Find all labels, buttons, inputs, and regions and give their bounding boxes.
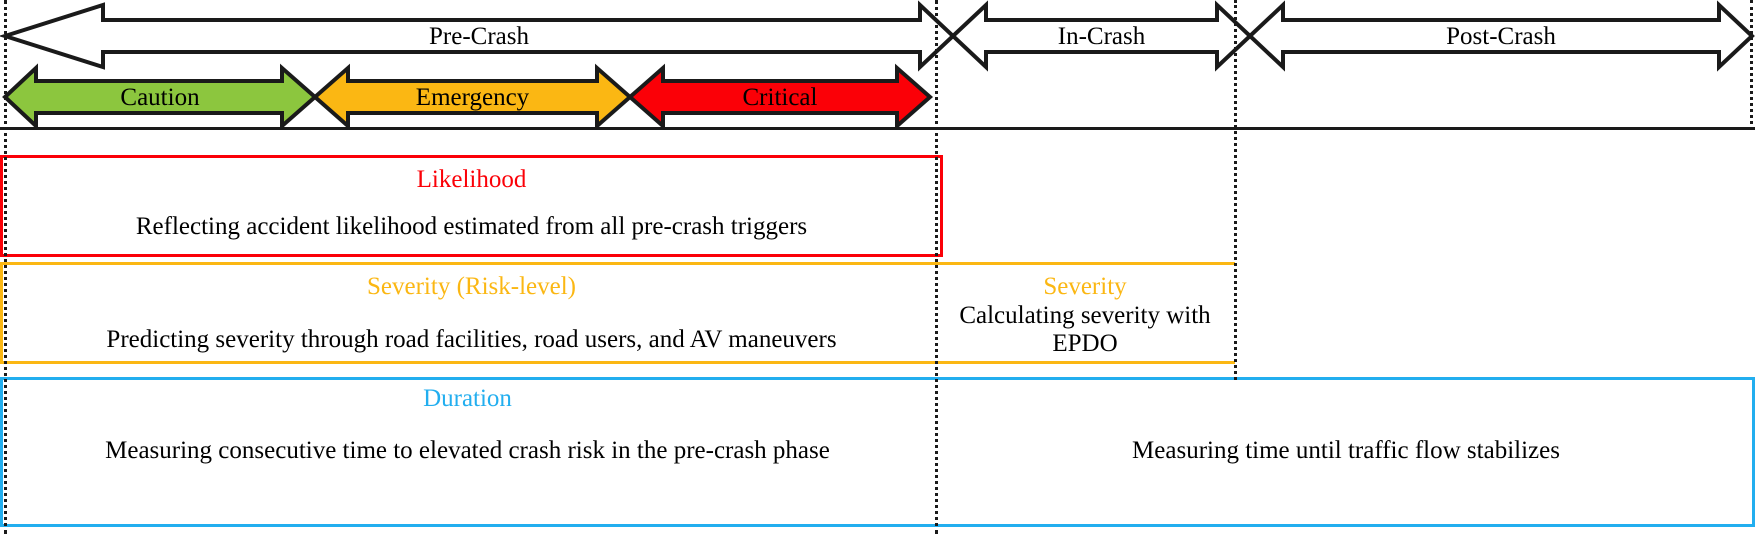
phase-arrow-band [0,0,1755,130]
attribute-description-severity-in-crash: Calculating severity with EPDO [935,302,1235,358]
phase-arrow-post-crash [1250,5,1752,67]
divider-pre-in-crash [935,0,938,534]
attribute-description-severity-pre-crash: Predicting severity through road facilit… [3,326,940,354]
attribute-title-duration-wrap: Duration [0,386,935,412]
attribute-cell-likelihood-pre-crash: Likelihood Reflecting accident likelihoo… [0,155,943,257]
attribute-description-duration-post-wrap: Measuring time until traffic flow stabil… [940,437,1752,465]
attribute-title-likelihood: Likelihood [3,167,940,193]
attribute-title-severity-pre-crash: Severity (Risk-level) [3,274,940,300]
phase-arrow-in-crash [953,5,1250,67]
attribute-title-duration: Duration [0,386,935,412]
crash-phase-framework-diagram: Pre-Crash In-Crash Post-Crash Caution Em… [0,0,1755,534]
risk-arrow-caution [5,68,315,126]
divider-in-post-crash [1234,0,1237,380]
phase-arrow-pre-crash [5,5,953,67]
attribute-cell-severity-pre-crash: Severity (Risk-level) Predicting severit… [0,262,943,364]
attribute-description-duration-post: Measuring time until traffic flow stabil… [940,437,1752,465]
risk-arrow-emergency [315,68,630,126]
attribute-cell-severity-in-crash: Severity Calculating severity with EPDO [935,262,1235,364]
attribute-description-likelihood: Reflecting accident likelihood estimated… [3,213,940,241]
attribute-title-severity-in-crash: Severity [935,274,1235,300]
attribute-description-duration-pre-crash-wrap: Measuring consecutive time to elevated c… [0,437,935,465]
attribute-description-duration-pre-crash: Measuring consecutive time to elevated c… [0,437,935,465]
risk-arrow-critical [630,68,930,126]
divider-right-edge [1750,0,1753,130]
divider-left-edge [4,0,7,534]
